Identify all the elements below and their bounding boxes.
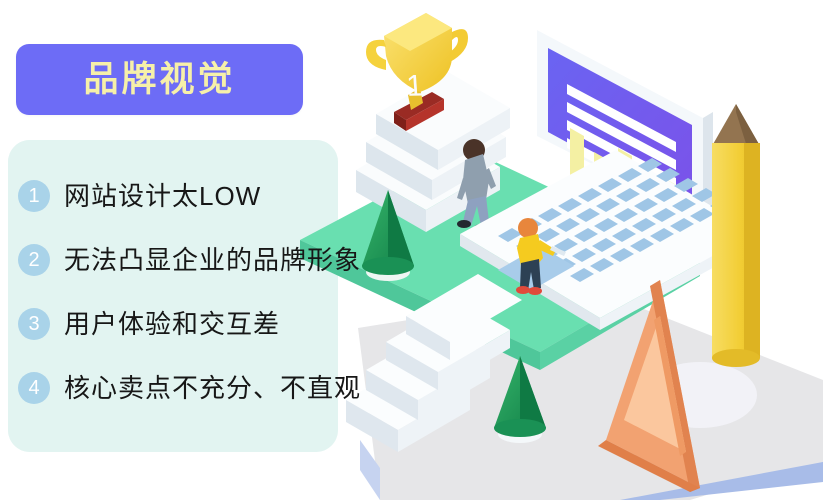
issue-label: 用户体验和交互差 bbox=[64, 311, 280, 337]
list-item[interactable]: 2 无法凸显企业的品牌形象 bbox=[18, 236, 438, 284]
person-presenter bbox=[516, 218, 566, 295]
laptop-keyboard bbox=[498, 158, 734, 282]
trophy-rank-label: 1 bbox=[405, 70, 424, 103]
poster-canvas: 1 bbox=[0, 0, 823, 500]
issues-list: 1 网站设计太LOW 2 无法凸显企业的品牌形象 3 用户体验和交互差 4 核心… bbox=[18, 172, 438, 428]
list-item[interactable]: 3 用户体验和交互差 bbox=[18, 300, 438, 348]
list-item[interactable]: 4 核心卖点不充分、不直观 bbox=[18, 364, 438, 412]
issue-label: 核心卖点不充分、不直观 bbox=[64, 375, 361, 401]
issue-number-badge: 4 bbox=[18, 372, 50, 404]
laptop-screen bbox=[548, 48, 692, 210]
issue-number-badge: 3 bbox=[18, 308, 50, 340]
issue-label: 网站设计太LOW bbox=[64, 183, 261, 209]
laptop-trackpad bbox=[498, 246, 574, 290]
tree-lower bbox=[494, 356, 546, 443]
laptop bbox=[460, 24, 756, 330]
issue-label: 无法凸显企业的品牌形象 bbox=[64, 247, 361, 273]
list-item[interactable]: 1 网站设计太LOW bbox=[18, 172, 438, 220]
issue-number-badge: 1 bbox=[18, 180, 50, 212]
ruler-triangle bbox=[598, 280, 700, 492]
screen-text-lines bbox=[567, 84, 676, 206]
pencil bbox=[712, 104, 760, 367]
title-badge-label: 品牌视觉 bbox=[83, 62, 235, 97]
screen-bar-chart bbox=[570, 128, 678, 244]
person-walker bbox=[457, 139, 496, 232]
issue-number-badge: 2 bbox=[18, 244, 50, 276]
title-badge[interactable]: 品牌视觉 bbox=[16, 44, 303, 115]
trophy-icon: 1 bbox=[366, 0, 468, 131]
